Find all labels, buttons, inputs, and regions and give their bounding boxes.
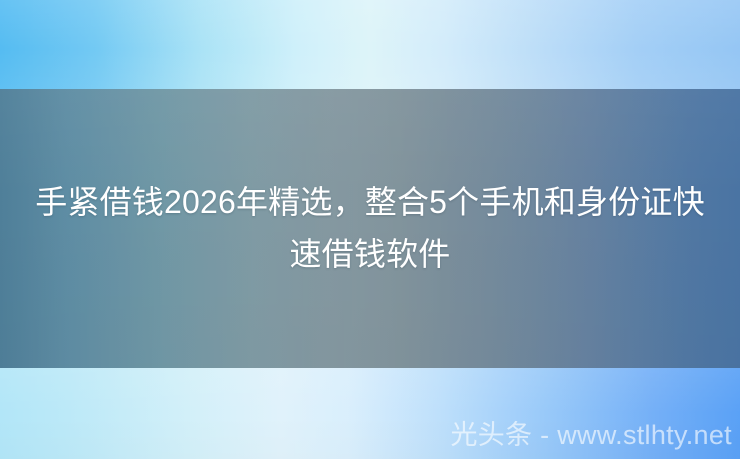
bottom-gradient-band	[0, 368, 740, 459]
middle-gradient-band	[0, 89, 740, 368]
banner-image: 手紧借钱2026年精选，整合5个手机和身份证快速借钱软件 光头条 - www.s…	[0, 0, 740, 459]
top-gradient-band	[0, 0, 740, 89]
